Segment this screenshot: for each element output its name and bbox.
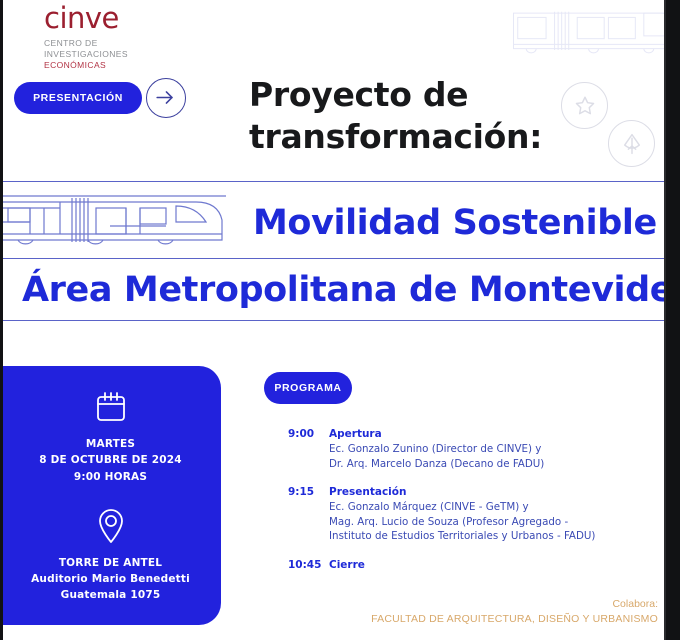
logo-tagline: CENTRO DE INVESTIGACIONES ECONÓMICAS	[44, 38, 194, 71]
divider-top	[3, 181, 664, 182]
list-item: 10:45 Cierre	[288, 558, 628, 573]
program-body: Apertura Ec. Gonzalo Zunino (Director de…	[329, 427, 628, 471]
event-time: 9:00 HORAS	[0, 469, 221, 485]
program-detail: Ec. Gonzalo Zunino (Director de CINVE) y	[329, 442, 628, 457]
headline-area-metropolitana: Área Metropolitana de Montevideo	[22, 270, 680, 310]
bottom-margin	[3, 628, 664, 640]
page-title-line1: Proyecto de	[249, 74, 579, 116]
logo-wordmark: cinve	[44, 4, 194, 33]
program-list: 9:00 Apertura Ec. Gonzalo Zunino (Direct…	[288, 427, 628, 587]
event-info-card: MARTES 8 DE OCTUBRE DE 2024 9:00 HORAS T…	[0, 366, 221, 625]
event-date: 8 DE OCTUBRE DE 2024	[0, 452, 221, 468]
program-title: Cierre	[329, 558, 628, 573]
programa-button[interactable]: PROGRAMA	[264, 372, 352, 404]
logo-tagline-line1: CENTRO DE	[44, 38, 194, 49]
page-title-line2: transformación:	[249, 116, 579, 158]
program-title: Presentación	[329, 485, 628, 500]
page-title: Proyecto de transformación:	[249, 74, 579, 157]
program-time: 9:00	[288, 427, 329, 471]
location-pin-icon	[95, 507, 127, 545]
divider-mid	[3, 258, 664, 259]
arrow-right-icon[interactable]	[146, 78, 186, 118]
logo-tagline-line3: ECONÓMICAS	[44, 60, 194, 71]
list-item: 9:15 Presentación Ec. Gonzalo Márquez (C…	[288, 485, 628, 544]
divider-bottom	[3, 320, 664, 321]
program-detail: Dr. Arq. Marcelo Danza (Decano de FADU)	[329, 457, 628, 472]
calendar-icon	[94, 390, 128, 424]
frame-edge-left	[0, 0, 3, 640]
program-body: Cierre	[329, 558, 628, 573]
event-address: Guatemala 1075	[0, 587, 221, 603]
star-outline-icon	[561, 82, 608, 129]
event-venue: TORRE DE ANTEL	[0, 555, 221, 571]
program-detail: Instituto de Estudios Territoriales y Ur…	[329, 529, 628, 544]
event-venue-block: TORRE DE ANTEL Auditorio Mario Benedetti…	[0, 555, 221, 604]
program-time: 10:45	[288, 558, 329, 573]
event-date-block: MARTES 8 DE OCTUBRE DE 2024 9:00 HORAS	[0, 436, 221, 485]
program-detail: Ec. Gonzalo Márquez (CINVE - GeTM) y	[329, 500, 628, 515]
leaf-outline-icon	[608, 120, 655, 167]
list-item: 9:00 Apertura Ec. Gonzalo Zunino (Direct…	[288, 427, 628, 471]
colabora-name: FACULTAD DE ARQUITECTURA, DISEÑO Y URBAN…	[371, 612, 658, 628]
frame-edge-right	[666, 0, 680, 640]
poster-canvas: cinve CENTRO DE INVESTIGACIONES ECONÓMIC…	[0, 0, 680, 640]
event-room: Auditorio Mario Benedetti	[0, 571, 221, 587]
colabora-label: Colabora:	[371, 597, 658, 613]
tram-line-art-icon	[0, 186, 240, 256]
event-day: MARTES	[0, 436, 221, 452]
program-detail: Mag. Arq. Lucio de Souza (Profesor Agreg…	[329, 515, 628, 530]
logo-tagline-line2: INVESTIGACIONES	[44, 49, 194, 60]
headline-movilidad: Movilidad Sostenible	[253, 203, 657, 243]
program-time: 9:15	[288, 485, 329, 544]
program-body: Presentación Ec. Gonzalo Márquez (CINVE …	[329, 485, 628, 544]
cinve-logo: cinve CENTRO DE INVESTIGACIONES ECONÓMIC…	[44, 4, 194, 71]
tram-line-art-icon	[505, 4, 675, 62]
colabora-block: Colabora: FACULTAD DE ARQUITECTURA, DISE…	[371, 597, 658, 629]
presentacion-button[interactable]: PRESENTACIÓN	[14, 82, 142, 114]
program-title: Apertura	[329, 427, 628, 442]
